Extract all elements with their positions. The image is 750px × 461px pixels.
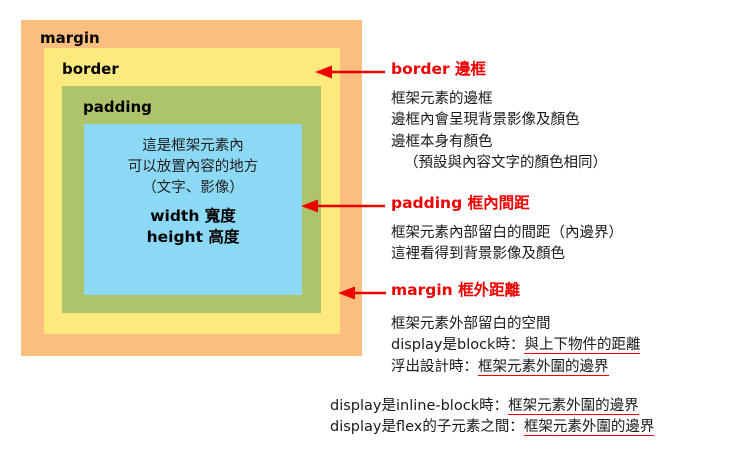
border-layer-label: border xyxy=(62,62,119,77)
border-callout-arrow-icon xyxy=(314,65,386,79)
extra-annotation-line-2-prefix: display是flex的子元素之間： xyxy=(330,419,524,435)
border-annotation-body: 框架元素的邊框 邊框內會呈現背景影像及顏色 邊框本身有顏色 （預設與內容文字的顏… xyxy=(391,89,607,175)
content-height-label: height 高度 xyxy=(84,227,302,248)
padding-callout-arrow-icon xyxy=(300,199,386,213)
margin-annotation-line-2-prefix: display是block時： xyxy=(391,337,524,353)
border-annotation-heading: border 邊框 xyxy=(391,62,486,78)
padding-annotation-heading: padding 框內間距 xyxy=(391,196,530,212)
margin-annotation-line-1: 框架元素外部留白的空間 xyxy=(391,314,640,335)
extra-annotation-line-1: display是inline-block時：框架元素外圍的邊界 xyxy=(330,396,654,417)
margin-annotation-line-3-prefix: 浮出設計時： xyxy=(391,359,478,375)
extra-annotation-line-2-emphasis: 框架元素外圍的邊界 xyxy=(524,419,655,436)
extra-annotation-line-2: display是flex的子元素之間：框架元素外圍的邊界 xyxy=(330,417,654,438)
margin-callout-arrow-icon xyxy=(337,286,387,300)
margin-annotation-line-3: 浮出設計時：框架元素外圍的邊界 xyxy=(391,357,640,378)
border-annotation-line-1: 框架元素的邊框 xyxy=(391,89,607,110)
margin-annotation-line-2: display是block時：與上下物件的距離 xyxy=(391,335,640,356)
padding-annotation-line-1: 框架元素內部留白的間距（內邊界） xyxy=(391,223,623,244)
padding-annotation-body: 框架元素內部留白的間距（內邊界） 這裡看得到背景影像及顏色 xyxy=(391,223,623,266)
content-width-label: width 寬度 xyxy=(84,206,302,227)
box-model-diagram: margin border padding 這是框架元素內 可以放置內容的地方 … xyxy=(21,20,362,356)
margin-annotation-line-3-emphasis: 框架元素外圍的邊界 xyxy=(478,359,609,376)
border-annotation-line-4: （預設與內容文字的顏色相同） xyxy=(391,153,607,174)
border-annotation-line-3: 邊框本身有顏色 xyxy=(391,132,607,153)
content-area-text: 這是框架元素內 可以放置內容的地方 （文字、影像） width 寬度 heigh… xyxy=(84,136,302,248)
extra-annotation-line-1-prefix: display是inline-block時： xyxy=(330,398,508,414)
extra-annotation-line-1-emphasis: 框架元素外圍的邊界 xyxy=(508,398,639,415)
content-line-3: （文字、影像） xyxy=(84,178,302,199)
content-line-1: 這是框架元素內 xyxy=(84,136,302,157)
border-annotation-line-2: 邊框內會呈現背景影像及顏色 xyxy=(391,110,607,131)
padding-annotation-line-2: 這裡看得到背景影像及顏色 xyxy=(391,244,623,265)
content-dimensions: width 寬度 height 高度 xyxy=(84,206,302,248)
content-line-2: 可以放置內容的地方 xyxy=(84,157,302,178)
margin-annotation-heading: margin 框外距離 xyxy=(391,283,520,299)
padding-layer-label: padding xyxy=(83,100,152,115)
margin-layer-label: margin xyxy=(40,31,100,46)
margin-annotation-line-2-emphasis: 與上下物件的距離 xyxy=(524,337,640,354)
extra-annotation-body: display是inline-block時：框架元素外圍的邊界 display是… xyxy=(330,396,654,439)
margin-annotation-body: 框架元素外部留白的空間 display是block時：與上下物件的距離 浮出設計… xyxy=(391,314,640,378)
